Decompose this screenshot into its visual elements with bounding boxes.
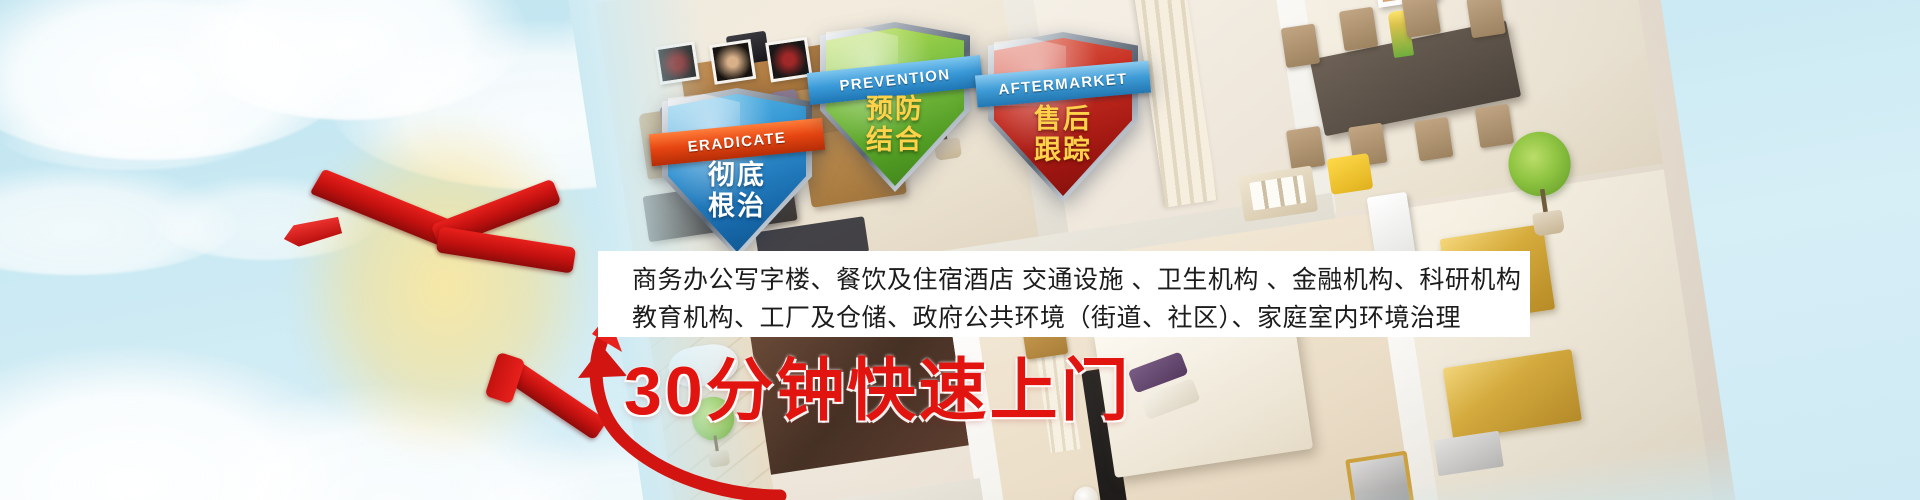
shield-badge-prevention: PREVENTION 预防 结合 [820,22,970,192]
headline-text: 30分钟快速上门 [624,352,1132,430]
shield-chinese-line-2: 根治 [662,191,812,222]
shield-english-label: PREVENTION [839,66,952,95]
cloud [0,100,260,170]
shield-chinese-line-1: 预防 [820,94,970,125]
promo-banner: 3 ERADICATE 彻底 根治 PREVENTION 预 [0,0,1920,500]
shield-chinese-line-1: 彻底 [662,160,812,191]
shield-chinese-label: 预防 结合 [820,94,970,156]
service-scope-panel: 商务办公写字楼、餐饮及住宿酒店 交通设施 、卫生机构 、金融机构、科研机构 教育… [598,251,1530,337]
shield-chinese-line-2: 结合 [820,125,970,156]
shield-badge-aftermarket: AFTERMARKET 售后 跟踪 [988,32,1138,202]
shield-chinese-label: 彻底 根治 [662,160,812,222]
shield-chinese-label: 售后 跟踪 [988,104,1138,166]
service-scope-line-1: 商务办公写字楼、餐饮及住宿酒店 交通设施 、卫生机构 、金融机构、科研机构 [632,261,1530,299]
shield-badge-eradicate: ERADICATE 彻底 根治 [662,88,812,258]
shield-chinese-line-1: 售后 [988,104,1138,135]
shield-english-label: AFTERMARKET [998,70,1129,98]
service-scope-line-2: 教育机构、工厂及仓储、政府公共环境（街道、社区）、家庭室内环境治理 [632,299,1530,337]
shield-chinese-line-2: 跟踪 [988,135,1138,166]
shield-english-label: ERADICATE [687,129,787,155]
